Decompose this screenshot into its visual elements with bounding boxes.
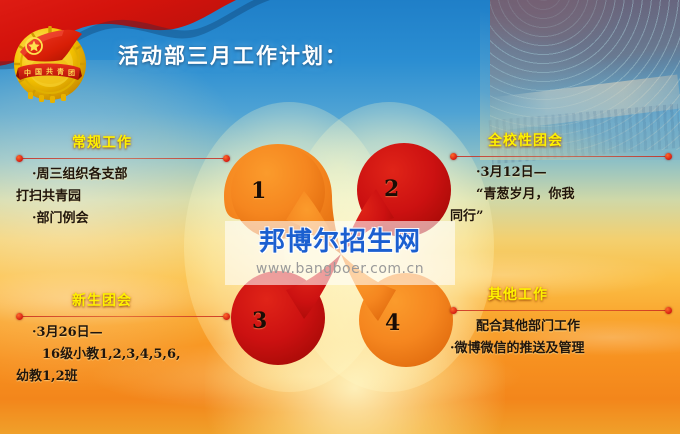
communist-youth-league-emblem: 中国共 青团 (4, 12, 96, 104)
rule-line (22, 316, 224, 317)
section-top-right-line-2: “青葱岁月，你我 (450, 184, 672, 206)
svg-text:国: 国 (35, 67, 42, 76)
poster-canvas: 中国共 青团 活动部三月工作计划： (0, 0, 680, 434)
section-top-left-rule (16, 154, 230, 164)
rule-dot-left (16, 313, 23, 320)
section-top-left: 常规工作 ·周三组织各支部 打扫共青园 ·部门例会 (16, 132, 230, 230)
svg-text:共: 共 (46, 67, 53, 76)
rule-line (22, 158, 224, 159)
section-top-left-line-3: ·部门例会 (16, 208, 230, 230)
section-top-right: 全校性团会 ·3月12日— “青葱岁月，你我 同行” (450, 130, 672, 228)
section-bottom-right-heading: 其他工作 (450, 284, 672, 304)
section-bottom-right-rule (450, 306, 672, 316)
section-bottom-left-heading: 新生团会 (16, 290, 230, 310)
rule-dot-left (16, 155, 23, 162)
section-bottom-left-rule (16, 312, 230, 322)
rule-dot-right (665, 307, 672, 314)
rule-dot-right (665, 153, 672, 160)
section-bottom-right: 其他工作 配合其他部门工作 ·微博微信的推送及管理 (450, 284, 672, 360)
petal-4-number: 4 (385, 310, 400, 336)
petal-1-number: 1 (251, 178, 266, 204)
watermark-site-name: 邦博尔招生网 (259, 227, 421, 257)
rule-dot-left (450, 307, 457, 314)
petal-3-number: 3 (252, 308, 267, 334)
rule-dot-right (223, 155, 230, 162)
section-top-right-line-3: 同行” (450, 206, 672, 228)
svg-text:团: 团 (68, 68, 75, 77)
rule-line (456, 156, 666, 157)
section-bottom-right-line-1: 配合其他部门工作 (450, 316, 672, 338)
section-top-left-line-1: ·周三组织各支部 (16, 164, 230, 186)
section-top-right-line-1: ·3月12日— (450, 162, 672, 184)
watermark-overlay: 邦博尔招生网 www.bangboer.com.cn (225, 221, 455, 285)
svg-text:中: 中 (24, 68, 31, 77)
rule-dot-right (223, 313, 230, 320)
page-title: 活动部三月工作计划： (118, 40, 348, 70)
section-bottom-left-line-3: 幼教1,2班 (16, 366, 230, 388)
rule-line (456, 310, 666, 311)
watermark-site-url: www.bangboer.com.cn (256, 259, 424, 279)
section-bottom-left: 新生团会 ·3月26日— 16级小教1,2,3,4,5,6, 幼教1,2班 (16, 290, 230, 388)
section-bottom-right-line-2: ·微博微信的推送及管理 (450, 338, 672, 360)
rule-dot-left (450, 153, 457, 160)
section-bottom-left-line-1: ·3月26日— (16, 322, 230, 344)
section-top-left-line-2: 打扫共青园 (16, 186, 230, 208)
svg-text:青: 青 (57, 67, 64, 76)
section-top-left-heading: 常规工作 (16, 132, 230, 152)
petal-2-number: 2 (384, 176, 399, 202)
section-top-right-rule (450, 152, 672, 162)
section-bottom-left-line-2: 16级小教1,2,3,4,5,6, (16, 344, 230, 366)
section-top-right-heading: 全校性团会 (450, 130, 672, 150)
